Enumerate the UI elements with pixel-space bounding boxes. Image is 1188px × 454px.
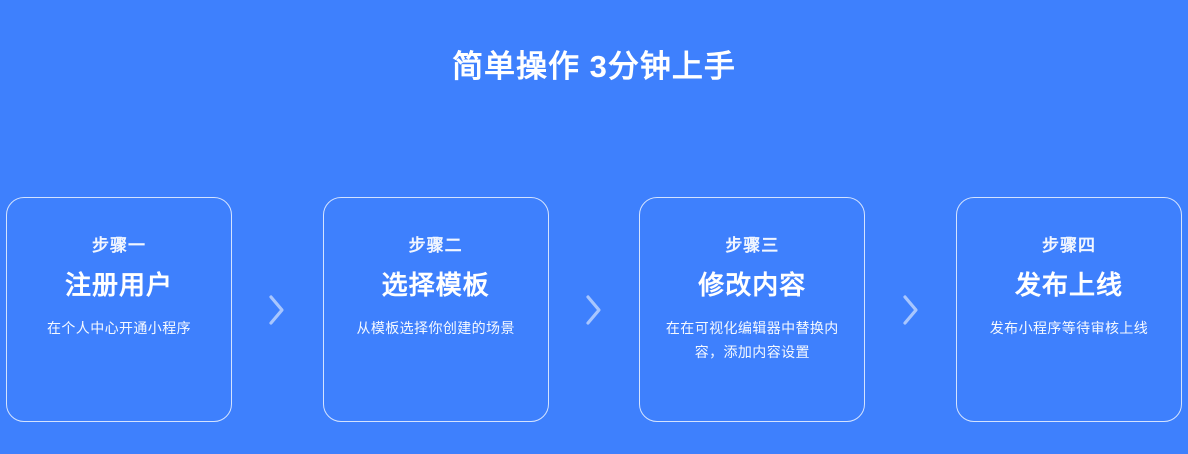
chevron-right-icon [266,292,288,328]
landing-steps-section: 简单操作 3分钟上手 步骤一 注册用户 在个人中心开通小程序 步骤二 选择模板 … [0,0,1188,454]
step-index-label: 步骤四 [1042,234,1096,258]
step-card-4[interactable]: 步骤四 发布上线 发布小程序等待审核上线 [956,197,1182,422]
step-card-2[interactable]: 步骤二 选择模板 从模板选择你创建的场景 [323,197,549,422]
step-separator-3 [893,197,929,422]
step-separator-1 [259,197,295,422]
step-title: 选择模板 [382,268,490,302]
step-title: 修改内容 [698,268,806,302]
section-title: 简单操作 3分钟上手 [0,46,1188,88]
chevron-right-icon [583,292,605,328]
step-separator-2 [576,197,612,422]
step-description: 从模板选择你创建的场景 [336,316,536,340]
step-description: 发布小程序等待审核上线 [969,316,1169,340]
step-description: 在在可视化编辑器中替换内容，添加内容设置 [652,316,852,364]
step-title: 发布上线 [1015,268,1123,302]
step-description: 在个人中心开通小程序 [19,316,219,340]
step-index-label: 步骤一 [92,234,146,258]
chevron-right-icon [900,292,922,328]
step-title: 注册用户 [65,268,173,302]
step-card-3[interactable]: 步骤三 修改内容 在在可视化编辑器中替换内容，添加内容设置 [639,197,865,422]
steps-row: 步骤一 注册用户 在个人中心开通小程序 步骤二 选择模板 从模板选择你创建的场景 [6,197,1182,422]
step-index-label: 步骤二 [409,234,463,258]
step-card-1[interactable]: 步骤一 注册用户 在个人中心开通小程序 [6,197,232,422]
step-index-label: 步骤三 [725,234,779,258]
